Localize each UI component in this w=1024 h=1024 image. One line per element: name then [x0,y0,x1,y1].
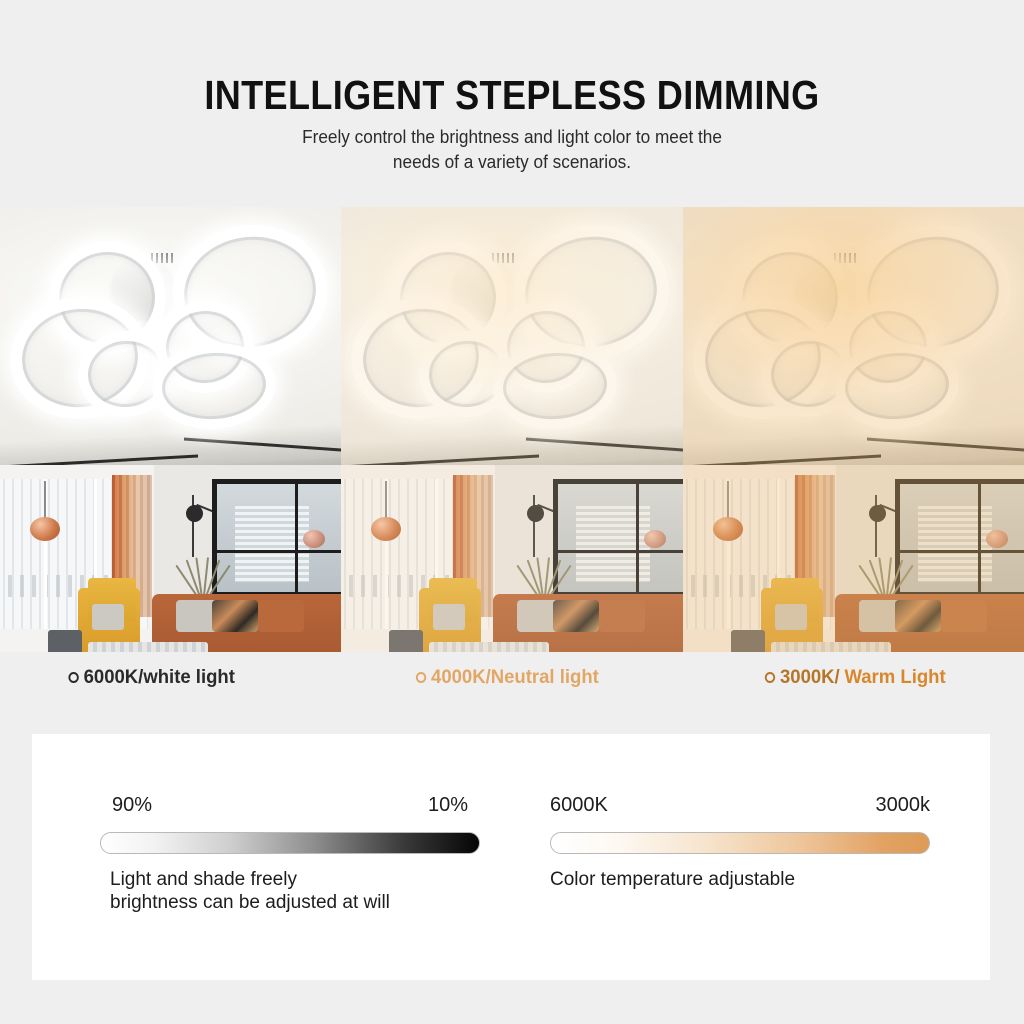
caption-row: 6000K/white light 4000K/Neutral light 30… [0,652,1024,728]
brightness-low-label: 90% [112,794,152,817]
reflected-pendant-lamp [303,530,325,548]
brightness-slider[interactable] [100,832,480,854]
sofa-cushion-patterned [212,600,258,632]
circle-outline-icon [416,672,426,683]
pendant-cord [727,481,729,519]
circle-outline-icon [765,672,775,683]
partition-rail [217,550,341,553]
partition-rail [558,550,682,553]
subtitle-line-2: needs of a variety of scenarios. [36,149,988,174]
page-title: INTELLIGENT STEPLESS DIMMING [61,72,962,119]
fixture-vents-icon [834,253,856,263]
reflected-pendant-lamp [644,530,666,548]
temperature-high-label: 3000k [876,794,931,817]
temperature-caption: Color temperature adjustable [550,868,930,891]
photo-strip [0,207,1024,652]
led-ring-fixture [683,219,1024,419]
caption-3000k: 3000K/ Warm Light [765,666,946,689]
armchair-pillow [433,604,465,630]
slider-card: 90% 10% Light and shade freely brightnes… [32,734,990,980]
fixture-vents-icon [151,253,173,263]
caption-6000k-label: 6000K/white light [84,666,235,689]
temperature-range-labels: 6000K 3000k [550,794,930,820]
caption-3000k-suffix: Warm Light [844,666,945,689]
partition-rail [900,550,1024,553]
circle-outline-icon [68,672,78,683]
side-table-object [48,630,82,652]
temperature-low-label: 6000K [550,794,608,817]
led-ring-fixture [0,219,341,419]
side-table-object [731,630,765,652]
sofa-cushion-brown [258,600,304,632]
copper-pendant-lamp [30,517,60,541]
reflected-pendant-lamp [986,530,1008,548]
partition-mullion [978,484,981,592]
sofa-cushion-patterned [553,600,599,632]
armchair-pillow [775,604,807,630]
pendant-cord [44,481,46,519]
sofa-cushion-brown [941,600,987,632]
partition-mullion [295,484,298,592]
room-photo-6000k [0,207,341,652]
brightness-slider-block: 90% 10% Light and shade freely brightnes… [100,794,480,914]
side-table-object [389,630,423,652]
room-lower [0,465,341,652]
brightness-caption: Light and shade freely brightness can be… [100,868,480,914]
led-ring-fixture [341,219,682,419]
caption-4000k: 4000K/Neutral light [416,666,599,689]
caption-3000k-prefix: 3000K/ [780,666,840,689]
brightness-range-labels: 90% 10% [100,794,480,820]
color-temperature-slider[interactable] [550,832,930,854]
sofa-cushion-brown [599,600,645,632]
partition-mullion [636,484,639,592]
room-lower [683,465,1024,652]
pendant-cord [385,481,387,519]
rug [88,642,208,652]
room-photo-3000k [683,207,1024,652]
room-photo-4000k [341,207,682,652]
armchair-pillow [92,604,124,630]
caption-6000k: 6000K/white light [68,666,235,689]
copper-pendant-lamp [713,517,743,541]
sofa-cushion-patterned [895,600,941,632]
infographic-page: INTELLIGENT STEPLESS DIMMING Freely cont… [0,0,1024,1024]
brightness-caption-line-2: brightness can be adjusted at will [110,891,480,914]
page-subtitle: Freely control the brightness and light … [36,124,988,174]
subtitle-line-1: Freely control the brightness and light … [36,124,988,149]
temperature-slider-block: 6000K 3000k Color temperature adjustable [550,794,930,891]
rug [771,642,891,652]
brightness-high-label: 10% [428,794,468,817]
brightness-caption-line-1: Light and shade freely [110,868,480,891]
header-section: INTELLIGENT STEPLESS DIMMING Freely cont… [0,0,1024,207]
caption-4000k-label: 4000K/Neutral light [431,666,599,689]
room-lower [341,465,682,652]
fixture-vents-icon [492,253,514,263]
rug [429,642,549,652]
temperature-caption-line-1: Color temperature adjustable [550,868,930,891]
